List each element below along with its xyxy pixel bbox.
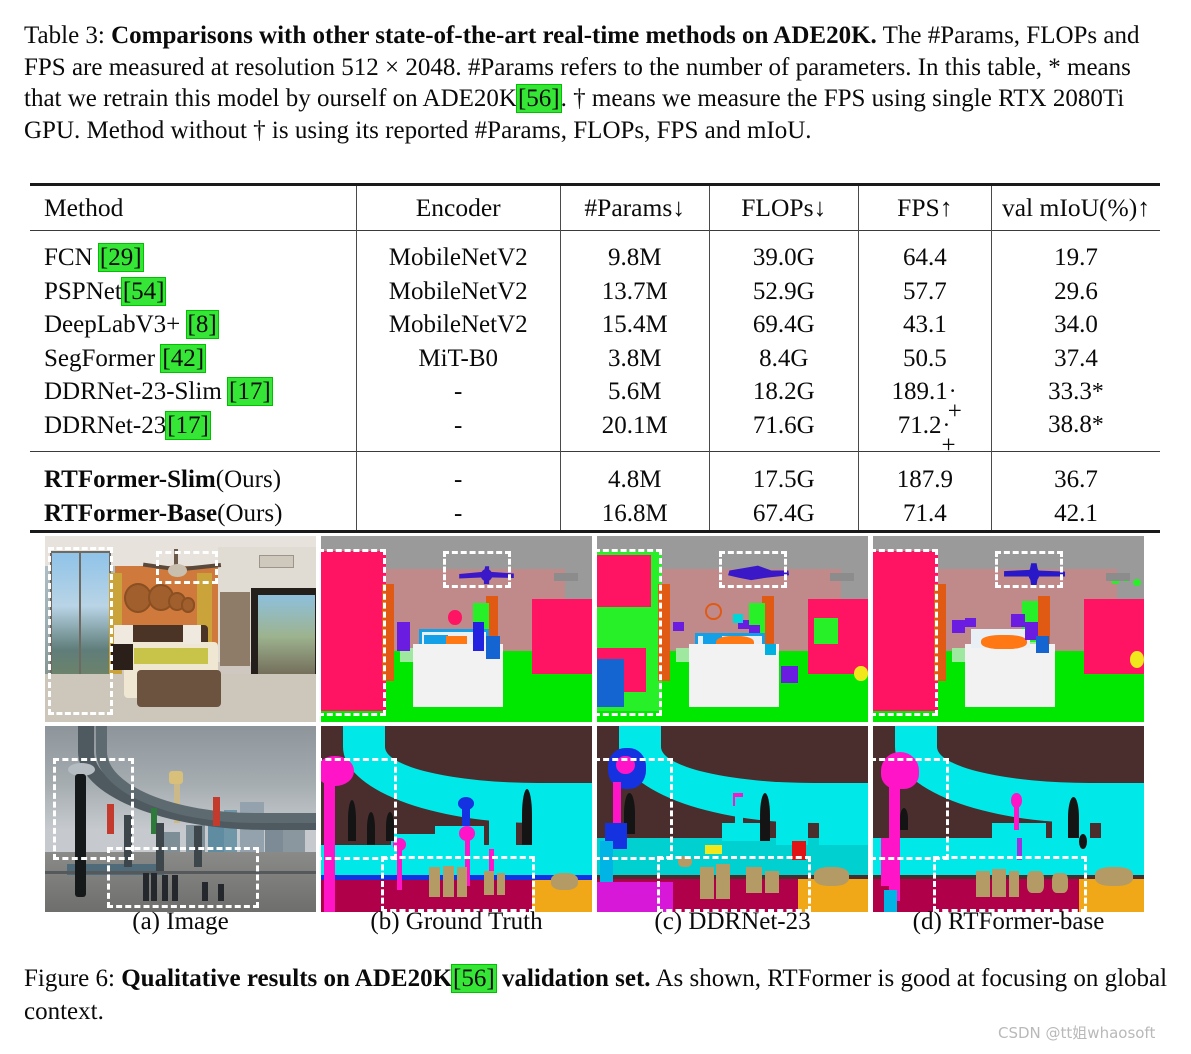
figure-caption-title-2: validation set. <box>502 965 651 992</box>
bedroom-seg-ddrnet <box>597 536 868 722</box>
cell-flops: 71.6G <box>709 409 858 443</box>
figure-row-bedroom <box>45 536 1145 722</box>
table-row: PSPNet[54] MobileNetV2 13.7M 52.9G 57.7 … <box>30 275 1160 309</box>
cell-flops: 18.2G <box>709 375 858 409</box>
citation-ref[interactable]: [29] <box>99 244 143 271</box>
cell-encoder: - <box>356 496 560 532</box>
star-marker: * <box>1092 379 1104 405</box>
column-header-encoder: Encoder <box>356 185 560 231</box>
cell-encoder: MiT-B0 <box>356 342 560 376</box>
table-row: DDRNet-23-Slim [17] - 5.6M 18.2G 189.1 3… <box>30 375 1160 409</box>
cell-params: 13.7M <box>560 275 709 309</box>
method-name: PSPNet <box>44 278 122 305</box>
cell-miou: 34.0 <box>991 308 1160 342</box>
table-caption-label: Table 3: <box>24 22 105 49</box>
table-rule-spacer-2 <box>30 452 1160 463</box>
panel-city-ddrnet23 <box>597 726 868 912</box>
cell-flops: 8.4G <box>709 342 858 376</box>
cell-fps: 189.1 <box>858 375 991 409</box>
cell-miou: 38.8* <box>991 409 1160 443</box>
cell-fps: 50.5 <box>858 342 991 376</box>
subcaption-rtformer-base: (d) RTFormer-base <box>873 908 1144 936</box>
panel-bedroom-image <box>45 536 316 722</box>
cell-encoder: - <box>356 375 560 409</box>
method-name: RTFormer-Base <box>44 500 217 527</box>
panel-city-ground-truth <box>321 726 592 912</box>
city-seg-gt <box>321 726 592 912</box>
column-header-method: Method <box>30 185 356 231</box>
bedroom-photo <box>45 536 316 722</box>
star-marker: * <box>1092 412 1104 438</box>
citation-ref[interactable]: [8] <box>187 311 218 338</box>
cell-miou: 19.7 <box>991 241 1160 275</box>
cell-miou: 42.1 <box>991 496 1160 532</box>
cell-params: 9.8M <box>560 241 709 275</box>
cell-method: RTFormer-Slim(Ours) <box>30 462 356 496</box>
cell-flops: 39.0G <box>709 241 858 275</box>
cell-fps: 187.9 <box>858 462 991 496</box>
subcaption-ground-truth: (b) Ground Truth <box>321 908 592 936</box>
column-header-flops: FLOPs↓ <box>709 185 858 231</box>
table-caption-title: Comparisons with other state-of-the-art … <box>111 22 877 49</box>
cell-flops: 52.9G <box>709 275 858 309</box>
citation-ref[interactable]: [17] <box>166 412 210 439</box>
results-table-wrapper: Method Encoder #Params↓ FLOPs↓ FPS↑ val … <box>30 183 1160 542</box>
ceiling-fan-icon <box>1000 562 1068 586</box>
table-row: DDRNet-23[17] - 20.1M 71.6G 71.2 38.8* <box>30 409 1160 443</box>
panel-bedroom-rtformer <box>873 536 1144 722</box>
table-row: DeepLabV3+ [8] MobileNetV2 15.4M 69.4G 4… <box>30 308 1160 342</box>
cell-encoder: MobileNetV2 <box>356 275 560 309</box>
table-spacer <box>30 442 1160 452</box>
method-name: FCN <box>44 244 93 271</box>
ceiling-fan-icon <box>454 564 519 586</box>
cell-miou: 29.6 <box>991 275 1160 309</box>
citation-ref[interactable]: [17] <box>228 378 272 405</box>
cell-fps: 57.7 <box>858 275 991 309</box>
panel-bedroom-ground-truth <box>321 536 592 722</box>
cell-method: FCN [29] <box>30 241 356 275</box>
figure-subcaptions: (a) Image (b) Ground Truth (c) DDRNet-23… <box>45 908 1145 936</box>
citation-ref[interactable]: [54] <box>122 278 166 305</box>
citation-56-number: 56 <box>526 85 551 112</box>
cell-flops: 17.5G <box>709 462 858 496</box>
cell-method: DDRNet-23-Slim [17] <box>30 375 356 409</box>
cell-encoder: MobileNetV2 <box>356 308 560 342</box>
panel-bedroom-ddrnet23 <box>597 536 868 722</box>
cell-method: SegFormer [42] <box>30 342 356 376</box>
figure-caption-label: Figure 6: <box>24 965 115 992</box>
cell-fps: 71.4 <box>858 496 991 532</box>
watermark: CSDN @tt姐whaosoft <box>998 1022 1155 1043</box>
bedroom-seg-rtformer <box>873 536 1144 722</box>
method-name: RTFormer-Slim <box>44 466 216 493</box>
cell-flops: 67.4G <box>709 496 858 532</box>
cell-method: DeepLabV3+ [8] <box>30 308 356 342</box>
cell-fps: 71.2 <box>858 409 991 443</box>
city-photo <box>45 726 316 912</box>
cell-miou: 36.7 <box>991 462 1160 496</box>
cell-params: 15.4M <box>560 308 709 342</box>
qualitative-figure <box>45 536 1145 911</box>
citation-56[interactable]: [56] <box>517 85 561 112</box>
city-seg-ddrnet <box>597 726 868 912</box>
table-row-ours: RTFormer-Base(Ours) - 16.8M 67.4G 71.4 4… <box>30 496 1160 532</box>
cell-fps: 43.1 <box>858 308 991 342</box>
city-seg-rtformer <box>873 726 1144 912</box>
panel-city-rtformer <box>873 726 1144 912</box>
column-header-params: #Params↓ <box>560 185 709 231</box>
figure-caption: Figure 6: Qualitative results on ADE20K[… <box>24 962 1174 1028</box>
cell-encoder: - <box>356 409 560 443</box>
subcaption-image: (a) Image <box>45 908 316 936</box>
bedroom-seg-gt <box>321 536 592 722</box>
cell-encoder: MobileNetV2 <box>356 241 560 275</box>
method-name: DDRNet-23-Slim <box>44 378 222 405</box>
table-rule-spacer <box>30 231 1160 242</box>
cell-fps: 64.4 <box>858 241 991 275</box>
cell-flops: 69.4G <box>709 308 858 342</box>
cell-params: 3.8M <box>560 342 709 376</box>
method-suffix: (Ours) <box>216 466 281 493</box>
ceiling-fan-icon <box>724 562 792 586</box>
citation-ref[interactable]: [42] <box>161 345 205 372</box>
paper-page: Table 3: Comparisons with other state-of… <box>0 0 1191 1054</box>
method-suffix: (Ours) <box>217 500 282 527</box>
table-caption: Table 3: Comparisons with other state-of… <box>24 20 1174 146</box>
citation-56-number: 56 <box>461 965 486 992</box>
cell-params: 20.1M <box>560 409 709 443</box>
cell-miou: 37.4 <box>991 342 1160 376</box>
table-header-row: Method Encoder #Params↓ FLOPs↓ FPS↑ val … <box>30 185 1160 231</box>
subcaption-ddrnet23: (c) DDRNet-23 <box>597 908 868 936</box>
cell-method: RTFormer-Base(Ours) <box>30 496 356 532</box>
results-table: Method Encoder #Params↓ FLOPs↓ FPS↑ val … <box>30 183 1160 542</box>
cell-params: 5.6M <box>560 375 709 409</box>
method-name: DeepLabV3+ <box>44 311 180 338</box>
method-name: SegFormer <box>44 345 155 372</box>
panel-city-image <box>45 726 316 912</box>
column-header-fps: FPS↑ <box>858 185 991 231</box>
table-row: FCN [29] MobileNetV2 9.8M 39.0G 64.4 19.… <box>30 241 1160 275</box>
table-row-ours: RTFormer-Slim(Ours) - 4.8M 17.5G 187.9 3… <box>30 462 1160 496</box>
citation-56[interactable]: [56] <box>452 965 496 992</box>
cell-encoder: - <box>356 462 560 496</box>
cell-method: PSPNet[54] <box>30 275 356 309</box>
table-row: SegFormer [42] MiT-B0 3.8M 8.4G 50.5 37.… <box>30 342 1160 376</box>
cell-miou: 33.3* <box>991 375 1160 409</box>
column-header-miou: val mIoU(%)↑ <box>991 185 1160 231</box>
cell-params: 16.8M <box>560 496 709 532</box>
cell-method: DDRNet-23[17] <box>30 409 356 443</box>
figure-caption-title-1: Qualitative results on ADE20K <box>121 965 452 992</box>
figure-row-city <box>45 726 1145 912</box>
cell-params: 4.8M <box>560 462 709 496</box>
method-name: DDRNet-23 <box>44 412 166 439</box>
